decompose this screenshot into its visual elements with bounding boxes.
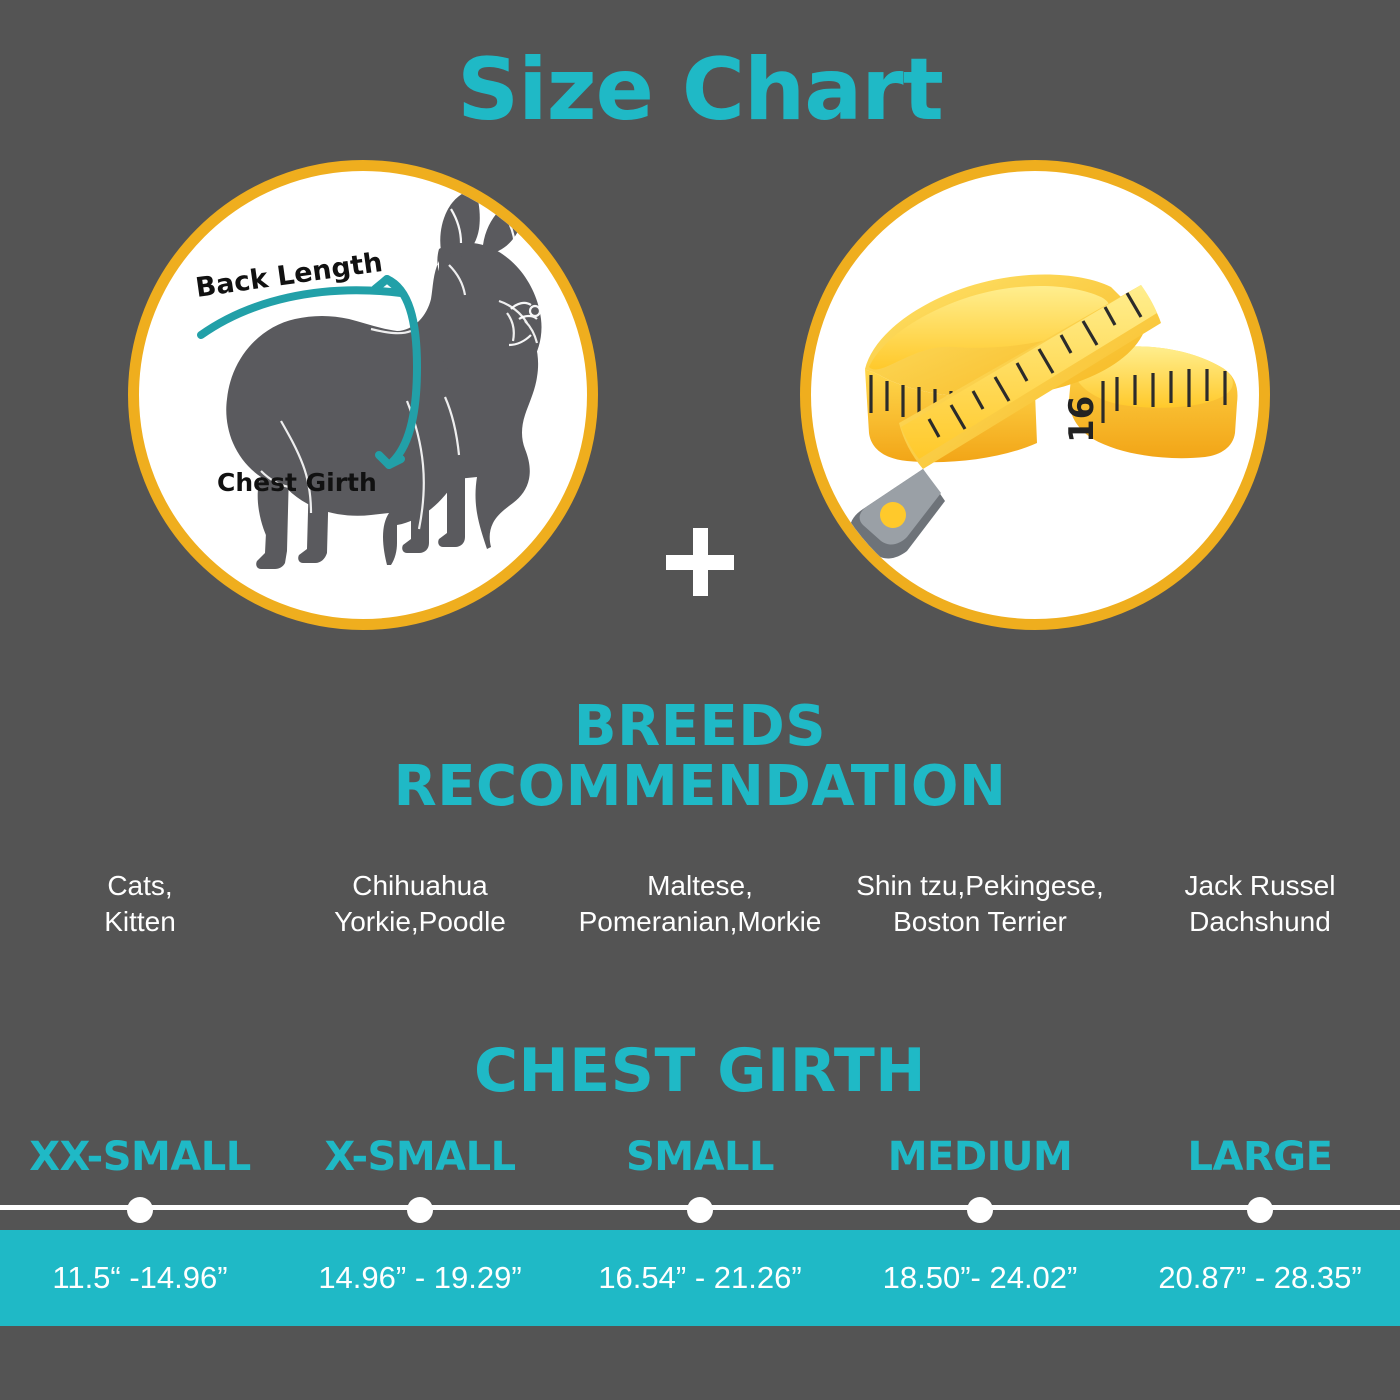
value-x-small: 14.96” - 19.29” [280,1260,560,1296]
value-xx-small: 11.5“ -14.96” [0,1260,280,1296]
size-label-x-small: X-SMALL [280,1134,560,1180]
chest-girth-value-bar: 11.5“ -14.96” 14.96” - 19.29” 16.54” - 2… [0,1230,1400,1326]
value-large: 20.87” - 28.35” [1120,1260,1400,1296]
breed-line: Chihuahua [284,868,556,904]
breed-line: Yorkie,Poodle [284,904,556,940]
size-label-row: XX-SMALL X-SMALL SMALL MEDIUM LARGE [0,1134,1400,1180]
axis-dot-small [687,1197,713,1223]
dog-body-shape [226,189,541,569]
breed-line: Pomeranian,Morkie [564,904,836,940]
breed-column-xsmall: Chihuahua Yorkie,Poodle [280,868,560,940]
size-chart-page: Size Chart [0,0,1400,1400]
axis-dot-row [0,1196,1400,1224]
tape-measure-illustration: 16 [811,171,1259,619]
size-label-large: LARGE [1120,1134,1400,1180]
axis-dot-xx-small [127,1197,153,1223]
axis-dot-cell [1120,1196,1400,1224]
axis-dot-cell [280,1196,560,1224]
breeds-row: Cats, Kitten Chihuahua Yorkie,Poodle Mal… [0,868,1400,940]
breed-column-small: Maltese, Pomeranian,Morkie [560,868,840,940]
breed-line: Kitten [4,904,276,940]
breeds-heading-line2: RECOMMENDATION [0,757,1400,817]
axis-dot-cell [0,1196,280,1224]
axis-dot-medium [967,1197,993,1223]
breed-column-large: Jack Russel Dachshund [1120,868,1400,940]
illustration-row: Back Length Chest Girth [0,160,1400,640]
breeds-heading: BREEDS RECOMMENDATION [0,697,1400,817]
dog-illustration: Back Length Chest Girth [139,171,587,619]
axis-dot-x-small [407,1197,433,1223]
breed-line: Dachshund [1124,904,1396,940]
breed-column-xxsmall: Cats, Kitten [0,868,280,940]
size-label-xx-small: XX-SMALL [0,1134,280,1180]
breed-column-medium: Shin tzu,Pekingese, Boston Terrier [840,868,1120,940]
value-medium: 18.50”- 24.02” [840,1260,1120,1296]
plus-icon [666,528,734,596]
chest-girth-heading: CHEST GIRTH [0,1036,1400,1106]
value-small: 16.54” - 21.26” [560,1260,840,1296]
breed-line: Jack Russel [1124,868,1396,904]
size-label-small: SMALL [560,1134,840,1180]
page-title: Size Chart [0,40,1400,140]
breed-line: Cats, [4,868,276,904]
chest-girth-label: Chest Girth [217,468,377,497]
tape-measure-circle: 16 [800,160,1270,630]
breed-line: Shin tzu,Pekingese, [844,868,1116,904]
size-label-medium: MEDIUM [840,1134,1120,1180]
size-axis [0,1196,1400,1224]
dog-illustration-circle: Back Length Chest Girth [128,160,598,630]
breed-line: Maltese, [564,868,836,904]
tape-number-16: 16 [1062,396,1102,443]
breeds-heading-line1: BREEDS [574,694,826,759]
axis-dot-cell [560,1196,840,1224]
breed-line: Boston Terrier [844,904,1116,940]
axis-dot-large [1247,1197,1273,1223]
axis-dot-cell [840,1196,1120,1224]
